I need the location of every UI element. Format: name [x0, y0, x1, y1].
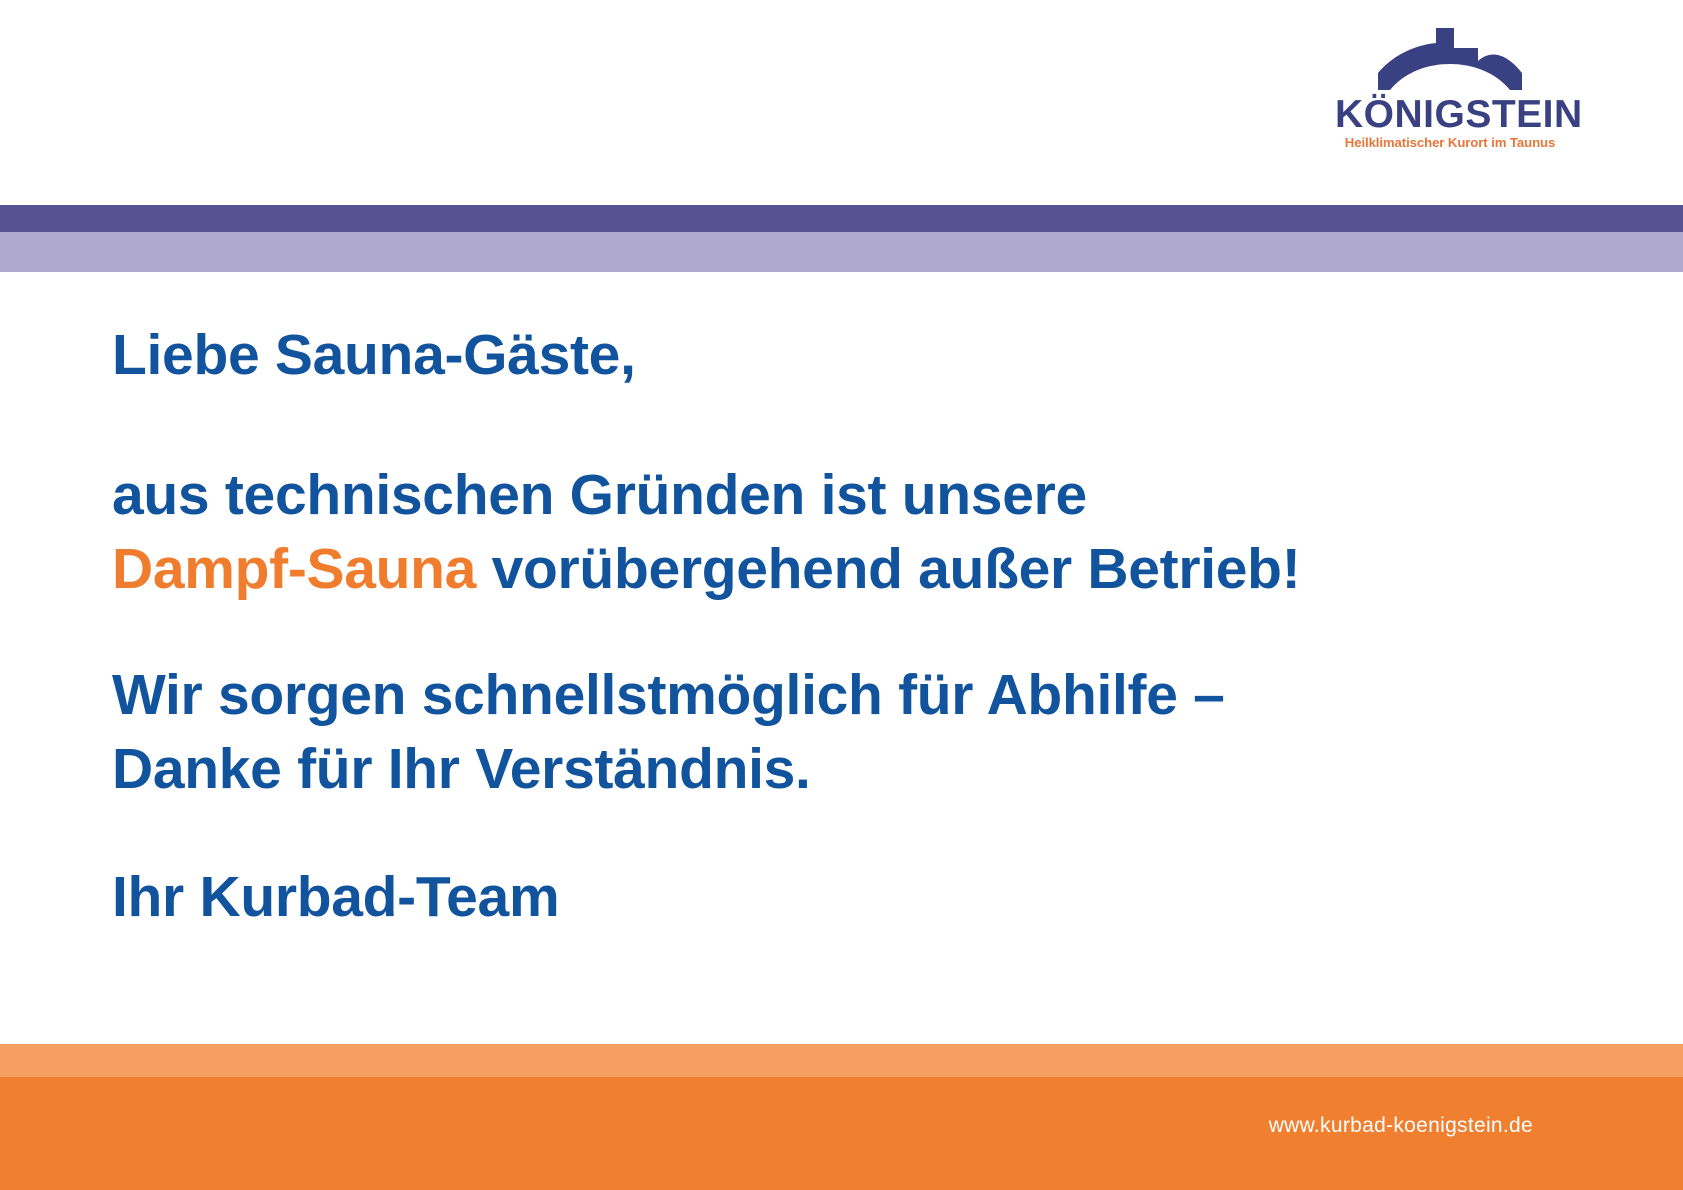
- poster-canvas: KÖNIGSTEIN Heilklimatischer Kurort im Ta…: [0, 0, 1683, 1190]
- band-purple-dark: [0, 205, 1683, 232]
- greeting-line-1: Liebe Sauna-Gäste,: [112, 318, 1592, 392]
- message-body: Liebe Sauna-Gäste, aus technischen Gründ…: [112, 318, 1592, 934]
- footer-website-url[interactable]: www.kurbad-koenigstein.de: [1269, 1114, 1533, 1138]
- logo-tagline: Heilklimatischer Kurort im Taunus: [1335, 134, 1565, 152]
- notice-line-2-rest: vorübergehend außer Betrieb!: [476, 537, 1300, 601]
- band-orange-light: [0, 1044, 1683, 1077]
- koenigstein-logo: KÖNIGSTEIN Heilklimatischer Kurort im Ta…: [1335, 28, 1565, 148]
- apology-line-2: Danke für Ihr Verständnis.: [112, 732, 1592, 806]
- message-notice: aus technischen Gründen ist unsere Dampf…: [112, 458, 1592, 606]
- notice-line-1: aus technischen Gründen ist unsere: [112, 458, 1592, 532]
- koenigstein-castle-mark-icon: [1370, 28, 1530, 90]
- band-purple-light: [0, 232, 1683, 272]
- message-greeting: Liebe Sauna-Gäste,: [112, 318, 1592, 392]
- message-apology: Wir sorgen schnellstmöglich für Abhilfe …: [112, 658, 1592, 806]
- notice-accent-dampf-sauna: Dampf-Sauna: [112, 537, 476, 601]
- poster-header: KÖNIGSTEIN Heilklimatischer Kurort im Ta…: [0, 0, 1683, 205]
- signature-line-1: Ihr Kurbad-Team: [112, 860, 1592, 934]
- logo-wordmark: KÖNIGSTEIN: [1335, 96, 1565, 133]
- notice-line-2: Dampf-Sauna vorübergehend außer Betrieb!: [112, 532, 1592, 606]
- apology-line-1: Wir sorgen schnellstmöglich für Abhilfe …: [112, 658, 1592, 732]
- message-signature: Ihr Kurbad-Team: [112, 860, 1592, 934]
